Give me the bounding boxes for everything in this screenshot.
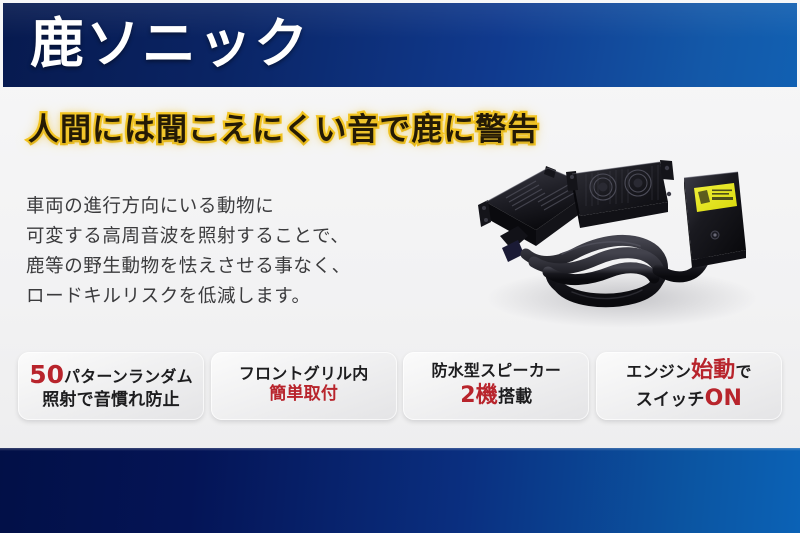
- feature-text-de: で: [735, 362, 751, 381]
- feature-line-2: 2機搭載: [460, 383, 532, 409]
- feature-line-1: 防水型スピーカー: [432, 362, 562, 381]
- feature-number-50: 50: [29, 360, 64, 389]
- body-copy-line-2: 可変する高周音波を照射することで、: [26, 222, 351, 252]
- feature-box-waterproof-speaker[interactable]: 防水型スピーカー 2機搭載: [403, 352, 589, 420]
- feature-box-random-pattern[interactable]: 50パターンランダム 照射で音慣れ防止: [18, 352, 204, 420]
- feature-line-1: 50パターンランダム: [29, 360, 193, 389]
- feature-accent-start: 始動: [691, 358, 735, 383]
- product-banner: 鹿ソニック 人間には聞こえにくい音で鹿に警告 車両の進行方向にいる動物に 可変す…: [0, 0, 800, 533]
- feature-text-engine: エンジン: [626, 362, 691, 381]
- speaker-unit-right: [566, 160, 674, 228]
- feature-line-2: 簡単取付: [269, 385, 338, 405]
- header-band: 鹿ソニック: [3, 3, 797, 87]
- body-copy-line-3: 鹿等の野生動物を怯えさせる事なく、: [26, 252, 351, 282]
- feature-line-2: 照射で音慣れ防止: [42, 391, 180, 411]
- feature-text-switch: スイッチ: [636, 390, 705, 410]
- feature-box-engine-switch[interactable]: エンジン始動で スイッチON: [596, 352, 782, 420]
- feature-text-equipped: 搭載: [498, 387, 532, 407]
- control-box: [684, 172, 746, 268]
- subtitle-headline: 人間には聞こえにくい音で鹿に警告: [28, 104, 539, 149]
- product-photo: [462, 150, 782, 330]
- feature-box-easy-install[interactable]: フロントグリル内 簡単取付: [211, 352, 397, 420]
- feature-line-1: フロントグリル内: [239, 365, 369, 384]
- feature-text-pattern: パターンランダム: [64, 367, 193, 386]
- feature-accent-on: ON: [705, 386, 743, 411]
- body-copy: 車両の進行方向にいる動物に 可変する高周音波を照射することで、 鹿等の野生動物を…: [26, 192, 351, 312]
- body-copy-line-4: ロードキルリスクを低減します。: [26, 282, 351, 312]
- feature-line-1: エンジン始動で: [626, 358, 751, 384]
- product-illustration: [462, 150, 782, 330]
- feature-box-row: 50パターンランダム 照射で音慣れ防止 フロントグリル内 簡単取付 防水型スピー…: [18, 352, 782, 420]
- footer-band: [0, 448, 800, 533]
- feature-line-2: スイッチON: [636, 386, 742, 412]
- brand-title: 鹿ソニック: [30, 17, 310, 71]
- body-copy-line-1: 車両の進行方向にいる動物に: [26, 192, 351, 222]
- feature-accent-count: 2機: [460, 383, 498, 408]
